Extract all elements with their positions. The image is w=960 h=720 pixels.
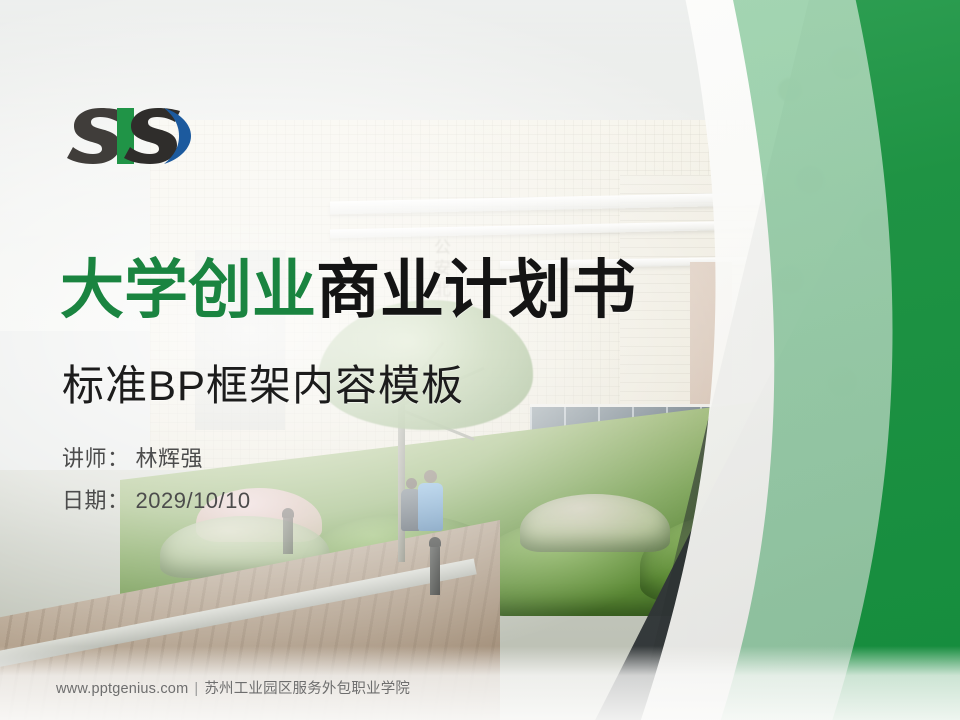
title-rest: 商业计划书 [316, 254, 636, 326]
footer-site-link[interactable]: www.pptgenius.com [56, 681, 188, 697]
sis-logo [62, 104, 194, 166]
presenter-label: 讲师： [62, 446, 130, 471]
slide-subtitle: 标准BP框架内容模板 [62, 352, 464, 413]
footer: www.pptgenius.com|苏州工业园区服务外包职业学院 [56, 677, 410, 698]
slide-title: 大学创业商业计划书 [60, 258, 636, 322]
date-label: 日期： [62, 488, 130, 513]
footer-separator: | [194, 681, 198, 697]
logo-letter-s-left [67, 108, 123, 164]
footer-institution: 苏州工业园区服务外包职业学院 [204, 681, 410, 697]
slide-meta: 讲师：林辉强 日期：2029/10/10 [62, 438, 251, 522]
presentation-cover-slide: 公安北 [0, 0, 960, 720]
title-highlight: 大学创业 [60, 254, 316, 326]
presenter-row: 讲师：林辉强 [62, 438, 251, 480]
date-value: 2029/10/10 [136, 488, 251, 513]
date-row: 日期：2029/10/10 [62, 480, 251, 522]
presenter-value: 林辉强 [136, 446, 204, 471]
